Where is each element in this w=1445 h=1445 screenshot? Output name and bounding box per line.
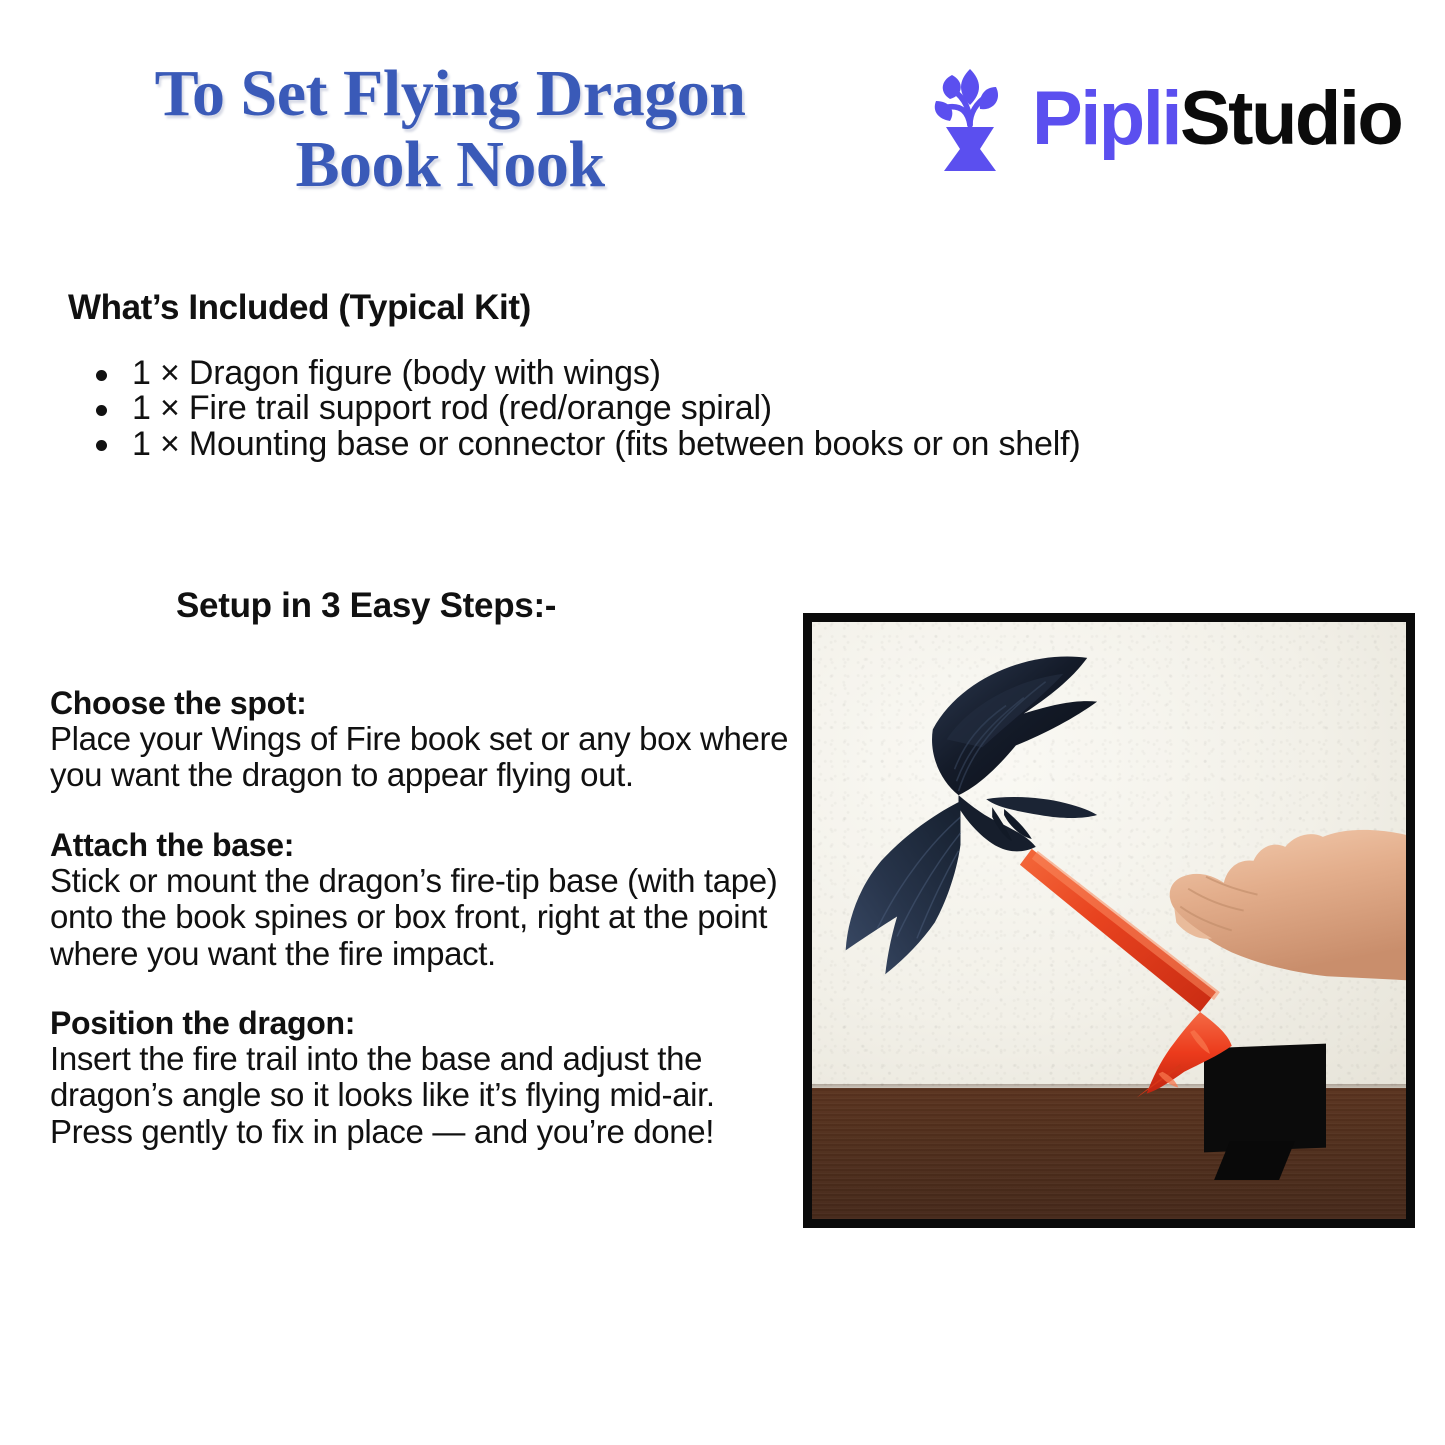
photo-dragon-figure <box>812 622 1406 1219</box>
setup-step-title: Choose the spot: <box>50 686 795 721</box>
setup-step-title: Attach the base: <box>50 828 795 863</box>
page-title-line-1: To Set Flying Dragon <box>70 58 830 129</box>
list-item: 1 × Dragon figure (body with wings) <box>84 356 1384 391</box>
list-item-label: 1 × Dragon figure (body with wings) <box>132 354 661 392</box>
product-photo <box>803 613 1415 1228</box>
bullet-icon <box>96 440 107 451</box>
setup-step-title: Position the dragon: <box>50 1006 795 1041</box>
setup-step: Choose the spot: Place your Wings of Fir… <box>50 686 795 794</box>
setup-step: Position the dragon: Insert the fire tra… <box>50 1006 795 1150</box>
dragon-upper-wing <box>932 656 1097 795</box>
setup-steps: Choose the spot: Place your Wings of Fir… <box>50 686 795 1150</box>
bullet-icon <box>96 370 107 381</box>
dragon-body <box>959 795 1098 851</box>
photo-hand <box>1170 830 1406 980</box>
setup-step-body: Stick or mount the dragon’s fire-tip bas… <box>50 863 795 972</box>
included-list: 1 × Dragon figure (body with wings) 1 × … <box>84 356 1384 462</box>
list-item: 1 × Mounting base or connector (fits bet… <box>84 427 1384 462</box>
setup-heading: Setup in 3 Easy Steps:- <box>176 586 556 626</box>
page-title: To Set Flying Dragon Book Nook <box>70 58 830 201</box>
page-title-line-2: Book Nook <box>70 129 830 200</box>
poster-page: To Set Flying Dragon Book Nook PipliStud… <box>0 0 1445 1445</box>
brand-logo: PipliStudio <box>922 60 1362 178</box>
plant-in-pot-icon <box>922 63 1018 175</box>
brand-name-primary: Pipli <box>1032 76 1180 161</box>
brand-name-secondary: Studio <box>1180 76 1401 161</box>
list-item-label: 1 × Mounting base or connector (fits bet… <box>132 425 1080 463</box>
brand-wordmark: PipliStudio <box>1032 81 1401 157</box>
setup-step: Attach the base: Stick or mount the drag… <box>50 828 795 972</box>
photo-scene <box>812 622 1406 1219</box>
bullet-icon <box>96 405 107 416</box>
list-item-label: 1 × Fire trail support rod (red/orange s… <box>132 389 772 427</box>
list-item: 1 × Fire trail support rod (red/orange s… <box>84 391 1384 426</box>
setup-step-body: Place your Wings of Fire book set or any… <box>50 721 795 794</box>
dragon-lower-wing <box>846 801 961 974</box>
included-heading: What’s Included (Typical Kit) <box>68 288 531 328</box>
setup-step-body: Insert the fire trail into the base and … <box>50 1041 795 1150</box>
